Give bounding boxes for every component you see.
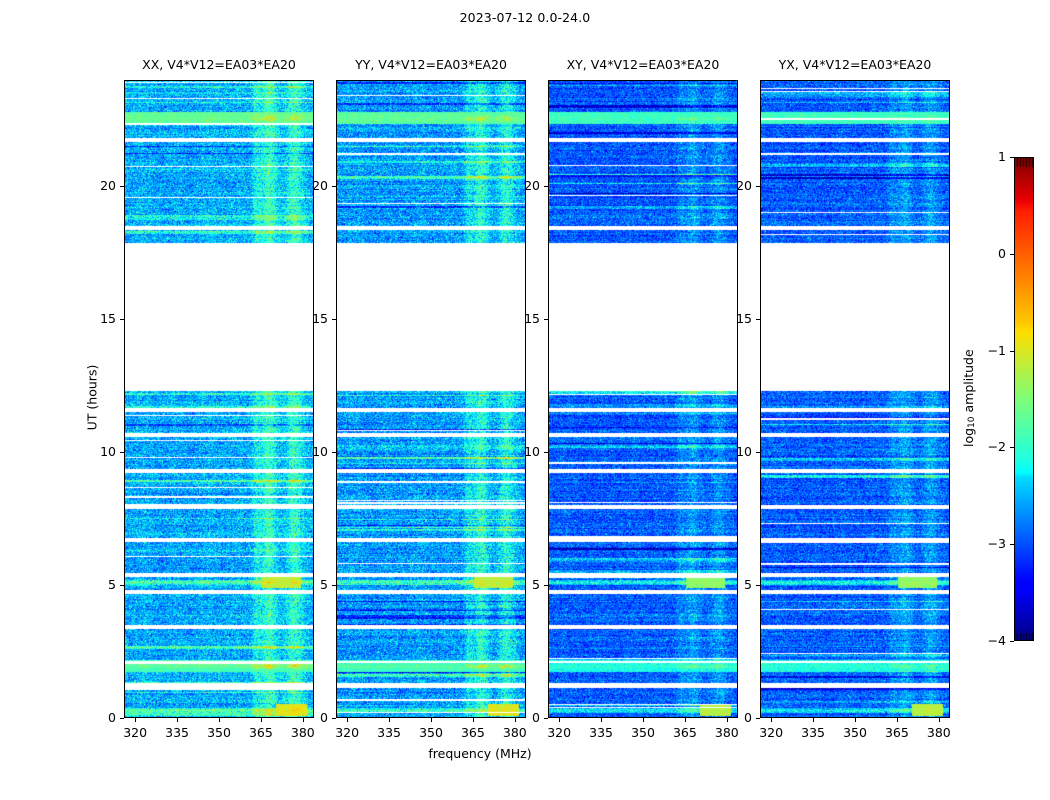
colorbar-tick-mark bbox=[1010, 641, 1014, 642]
colorbar-axis-label: log10 amplitude bbox=[961, 288, 977, 508]
colorbar-tick-mark bbox=[1010, 447, 1014, 448]
colorbar-tick-mark bbox=[1010, 351, 1014, 352]
colorbar-tick-mark bbox=[1010, 544, 1014, 545]
colorbar-gradient bbox=[1015, 158, 1034, 641]
colorbar-tick-label: 0 bbox=[966, 246, 1006, 261]
figure-canvas: 2023-07-12 0.0-24.0 XX, V4*V12=EA03*EA20… bbox=[0, 0, 1050, 800]
colorbar-tick-mark bbox=[1010, 157, 1014, 158]
colorbar-tick-label: −4 bbox=[966, 633, 1006, 648]
y-axis-label: UT (hours) bbox=[85, 298, 100, 498]
colorbar: 10−1−2−3−4 log10 amplitude bbox=[0, 0, 1050, 800]
colorbar-tick-label: −3 bbox=[966, 536, 1006, 551]
colorbar-gradient-body bbox=[1014, 157, 1034, 641]
colorbar-tick-mark bbox=[1010, 254, 1014, 255]
colorbar-tick-label: 1 bbox=[966, 149, 1006, 164]
x-axis-label: frequency (MHz) bbox=[330, 746, 630, 761]
